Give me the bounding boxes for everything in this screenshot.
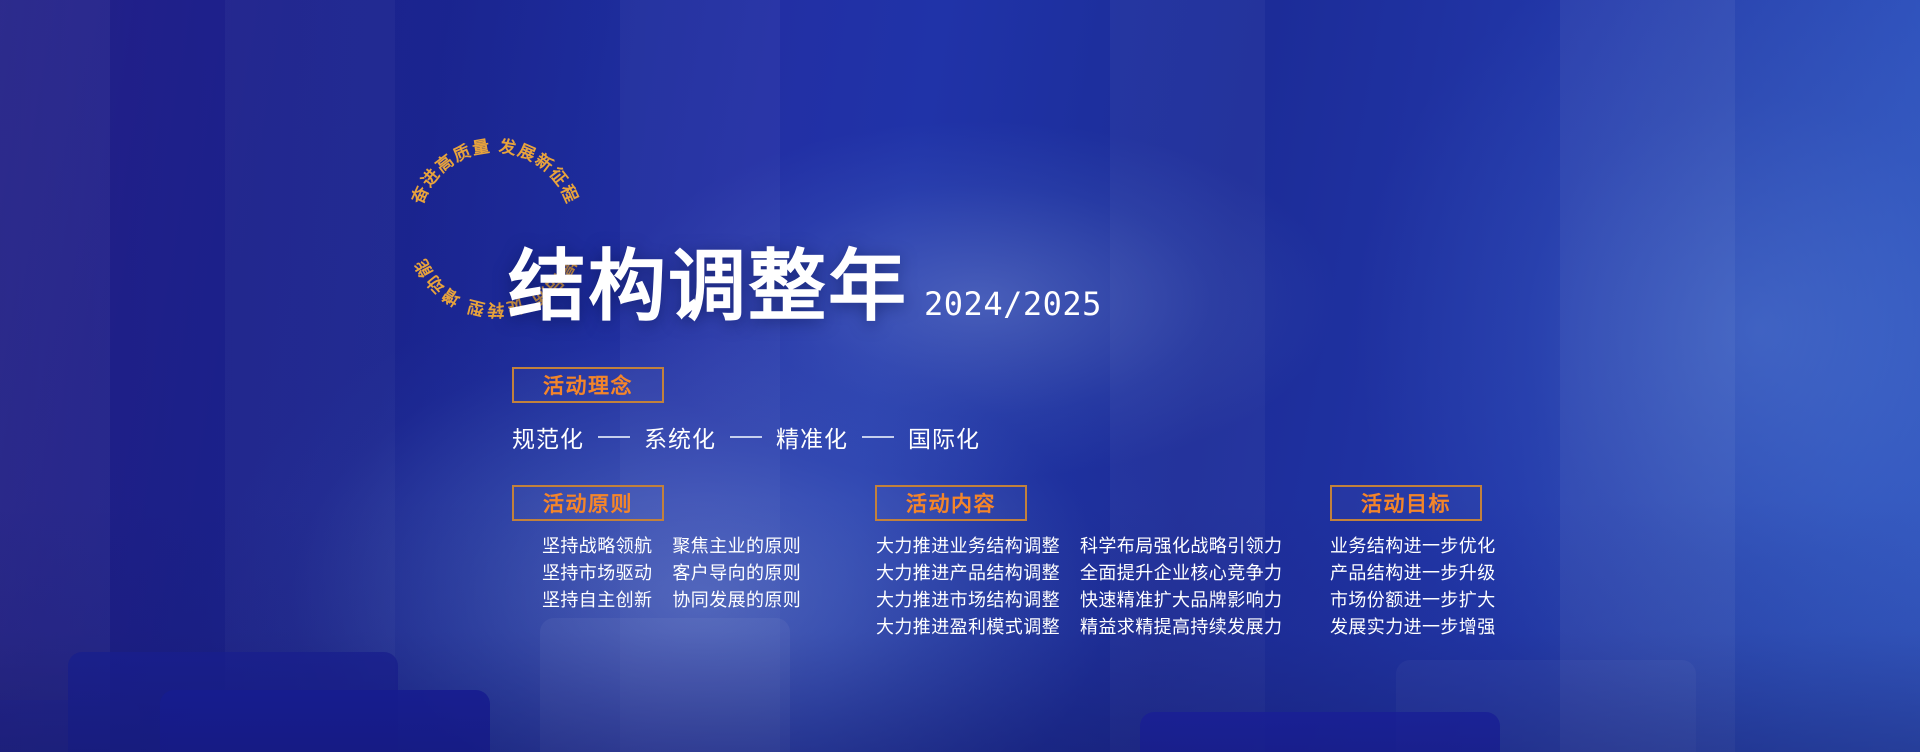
list-item-primary: 大力推进业务结构调整 bbox=[876, 533, 1060, 560]
list-item: 发展实力进一步增强 bbox=[1330, 614, 1496, 641]
list-item-primary: 大力推进市场结构调整 bbox=[876, 587, 1060, 614]
concept-keyword: 规范化 bbox=[512, 420, 584, 454]
badge-activity-concept[interactable]: 活动理念 bbox=[512, 367, 664, 403]
list-item: 坚持自主创新协同发展的原则 bbox=[542, 587, 801, 614]
list-item: 坚持战略领航聚焦主业的原则 bbox=[542, 533, 801, 560]
title-year-range: 2024/2025 bbox=[924, 288, 1102, 326]
concept-keyword: 系统化 bbox=[644, 420, 716, 454]
decorative-block-light-left bbox=[540, 618, 790, 752]
list-item: 市场份额进一步扩大 bbox=[1330, 587, 1496, 614]
list-item-secondary: 协同发展的原则 bbox=[672, 587, 801, 614]
list-item-secondary: 精益求精提高持续发展力 bbox=[1080, 614, 1282, 641]
list-item: 大力推进业务结构调整科学布局强化战略引领力 bbox=[876, 533, 1282, 560]
column-activity-principle: 坚持战略领航聚焦主业的原则坚持市场驱动客户导向的原则坚持自主创新协同发展的原则 bbox=[542, 533, 801, 614]
list-item: 产品结构进一步升级 bbox=[1330, 560, 1496, 587]
list-item-secondary: 全面提升企业核心竞争力 bbox=[1080, 560, 1282, 587]
list-item-primary: 坚持自主创新 bbox=[542, 587, 652, 614]
list-item: 大力推进盈利模式调整精益求精提高持续发展力 bbox=[876, 614, 1282, 641]
list-item-primary: 发展实力进一步增强 bbox=[1330, 614, 1496, 641]
list-item-primary: 产品结构进一步升级 bbox=[1330, 560, 1496, 587]
concept-separator-dash bbox=[862, 436, 894, 438]
column-activity-content: 大力推进业务结构调整科学布局强化战略引领力大力推进产品结构调整全面提升企业核心竞… bbox=[876, 533, 1282, 641]
decorative-block-corner bbox=[0, 700, 140, 752]
concept-separator-dash bbox=[598, 436, 630, 438]
list-item-secondary: 科学布局强化战略引领力 bbox=[1080, 533, 1282, 560]
emblem-arc-top-text: 奋进高质量 发展新征程 bbox=[407, 136, 582, 208]
concept-separator-dash bbox=[730, 436, 762, 438]
badge-activity-principle[interactable]: 活动原则 bbox=[512, 485, 664, 521]
column-activity-goal: 业务结构进一步优化产品结构进一步升级市场份额进一步扩大发展实力进一步增强 bbox=[1330, 533, 1496, 641]
concept-keyword: 精准化 bbox=[776, 420, 848, 454]
list-item: 业务结构进一步优化 bbox=[1330, 533, 1496, 560]
list-item-secondary: 客户导向的原则 bbox=[672, 560, 801, 587]
list-item: 大力推进产品结构调整全面提升企业核心竞争力 bbox=[876, 560, 1282, 587]
decorative-block-2 bbox=[160, 690, 490, 752]
decorative-block-light-right bbox=[1396, 660, 1696, 752]
concept-keyword-list: 规范化系统化精准化国际化 bbox=[512, 420, 980, 454]
list-item-primary: 大力推进产品结构调整 bbox=[876, 560, 1060, 587]
list-item: 大力推进市场结构调整快速精准扩大品牌影响力 bbox=[876, 587, 1282, 614]
list-item: 坚持市场驱动客户导向的原则 bbox=[542, 560, 801, 587]
list-item-primary: 业务结构进一步优化 bbox=[1330, 533, 1496, 560]
list-item-primary: 大力推进盈利模式调整 bbox=[876, 614, 1060, 641]
badge-activity-goal[interactable]: 活动目标 bbox=[1330, 485, 1482, 521]
badge-activity-content[interactable]: 活动内容 bbox=[875, 485, 1027, 521]
banner-root: 奋进高质量 发展新征程 提品质 促转型 增动能 结构调整年 2024/2025 … bbox=[0, 0, 1920, 752]
decorative-block-1 bbox=[68, 652, 398, 752]
list-item-primary: 坚持战略领航 bbox=[542, 533, 652, 560]
list-item-secondary: 聚焦主业的原则 bbox=[672, 533, 801, 560]
headline-group: 结构调整年 2024/2025 bbox=[508, 248, 1102, 326]
list-item-primary: 市场份额进一步扩大 bbox=[1330, 587, 1496, 614]
list-item-secondary: 快速精准扩大品牌影响力 bbox=[1080, 587, 1282, 614]
list-item-primary: 坚持市场驱动 bbox=[542, 560, 652, 587]
concept-keyword: 国际化 bbox=[908, 420, 980, 454]
decorative-block-3 bbox=[1140, 712, 1500, 752]
emblem-arc-top-textpath: 奋进高质量 发展新征程 bbox=[407, 136, 582, 208]
page-title: 结构调整年 bbox=[508, 248, 908, 326]
